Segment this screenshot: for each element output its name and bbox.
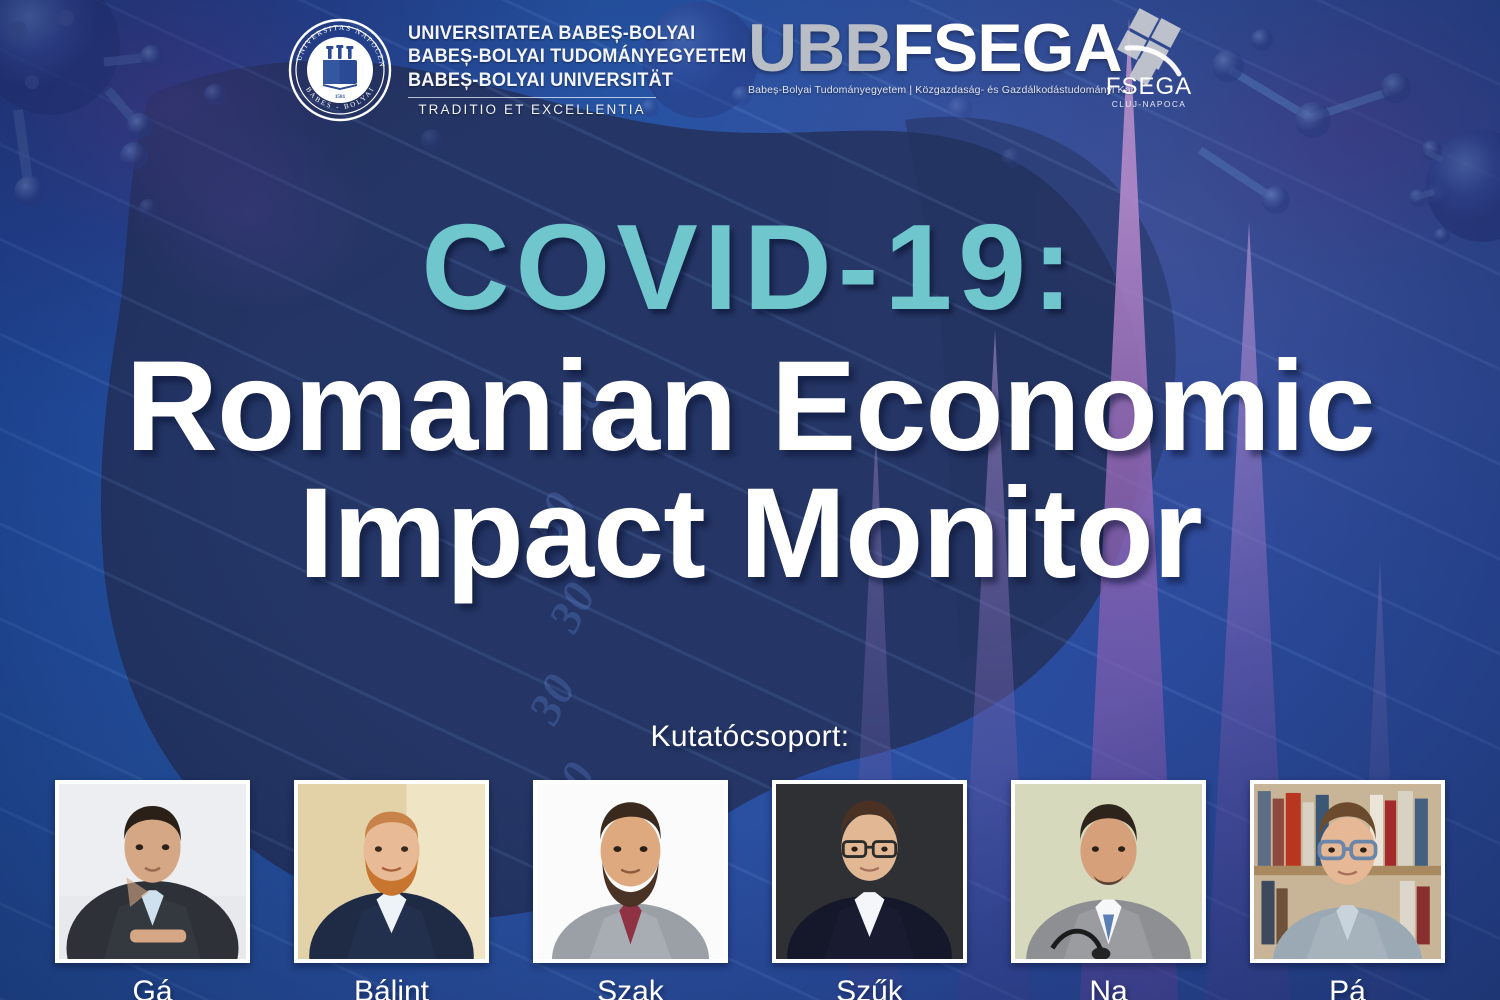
ubb-university-logo: 1581 UNIVERSITAS NAPOCENSIS BABES - BOLY… (288, 18, 772, 122)
team-member: Na (1011, 780, 1206, 1000)
ubb-divider (408, 97, 656, 98)
fsega-subtitle: Babeș-Bolyai Tudományegyetem | Közgazdas… (748, 84, 1134, 96)
ubb-line-de: BABEȘ-BOLYAI UNIVERSITÄT (408, 69, 746, 92)
member-portrait (1250, 780, 1445, 963)
ubb-line-ro: UNIVERSITATEA BABEȘ-BOLYAI (408, 22, 746, 45)
header-logos: 1581 UNIVERSITAS NAPOCENSIS BABES - BOLY… (0, 0, 1500, 140)
wordmark-ubb: UBB (748, 10, 892, 86)
team-member: Szak (533, 780, 728, 1000)
title-line-covid: COVID-19: (0, 206, 1500, 328)
svg-text:1581: 1581 (335, 94, 346, 100)
member-name: Szűk (772, 975, 967, 1000)
member-name: Na (1011, 975, 1206, 1000)
member-name: Szak (533, 975, 728, 1000)
fsega-diamond-icon: FSEGA CLUJ-NAPOCA (1093, 8, 1205, 120)
member-portrait (1011, 780, 1206, 963)
member-name: Bálint (294, 975, 489, 1000)
wordmark-fsega: FSEGA (892, 10, 1121, 86)
team-member: Pá (1250, 780, 1445, 1000)
member-name: Pá (1250, 975, 1445, 1000)
svg-text:CLUJ-NAPOCA: CLUJ-NAPOCA (1112, 99, 1187, 109)
poster-title-block: COVID-19: Romanian Economic Impact Monit… (0, 206, 1500, 599)
team-photo-row: Gá (0, 780, 1500, 1000)
title-line-impact-monitor: Impact Monitor (0, 469, 1500, 600)
team-member: Bálint (294, 780, 489, 1000)
member-name: Gá (55, 975, 250, 1000)
member-portrait (55, 780, 250, 963)
team-member: Gá (55, 780, 250, 1000)
member-portrait (772, 780, 967, 963)
team-heading: Kutatócsoport: (0, 720, 1500, 754)
university-seal-icon: 1581 UNIVERSITAS NAPOCENSIS BABES - BOLY… (288, 18, 392, 122)
member-portrait (533, 780, 728, 963)
ubb-motto: TRADITIO ET EXCELLENTIA (408, 102, 656, 118)
ubb-line-hu: BABEȘ-BOLYAI TUDOMÁNYEGYETEM (408, 45, 746, 68)
svg-text:FSEGA: FSEGA (1106, 73, 1192, 100)
poster-canvas: 50 50 30 30 30 (0, 0, 1500, 1000)
member-portrait (294, 780, 489, 963)
title-line-romanian-economic: Romanian Economic (126, 335, 1375, 478)
team-member: Szűk (772, 780, 967, 1000)
ubb-fsega-wordmark: UBBFSEGA Babeș-Bolyai Tudományegyetem | … (748, 16, 1134, 96)
